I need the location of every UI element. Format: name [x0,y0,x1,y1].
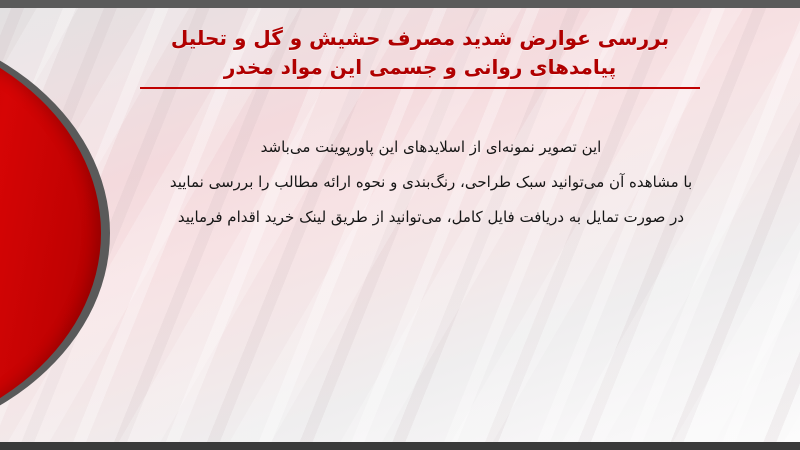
slide-body-line-1: این تصویر نمونه‌ای از اسلایدهای این پاور… [110,130,752,165]
slide-body-line-3: در صورت تمایل به دریافت فایل کامل، می‌تو… [110,200,752,235]
slide-content-panel: بررسی عوارض شدید مصرف حشیش و گل و تحلیل … [0,8,800,442]
presentation-slide: بررسی عوارض شدید مصرف حشیش و گل و تحلیل … [0,0,800,450]
slide-title-line-1: بررسی عوارض شدید مصرف حشیش و گل و تحلیل [110,24,730,53]
red-ellipse-outline [0,16,110,442]
red-ellipse-fill [0,21,101,442]
slide-body-line-2: با مشاهده آن می‌توانید سبک طراحی، رنگ‌بن… [110,165,752,200]
slide-title: بررسی عوارض شدید مصرف حشیش و گل و تحلیل … [110,24,730,89]
slide-title-line-2: پیامدهای روانی و جسمی این مواد مخدر [110,53,730,82]
red-ellipse-decoration [0,16,110,442]
slide-body-text: این تصویر نمونه‌ای از اسلایدهای این پاور… [110,130,752,235]
title-underline-rule [140,87,700,89]
